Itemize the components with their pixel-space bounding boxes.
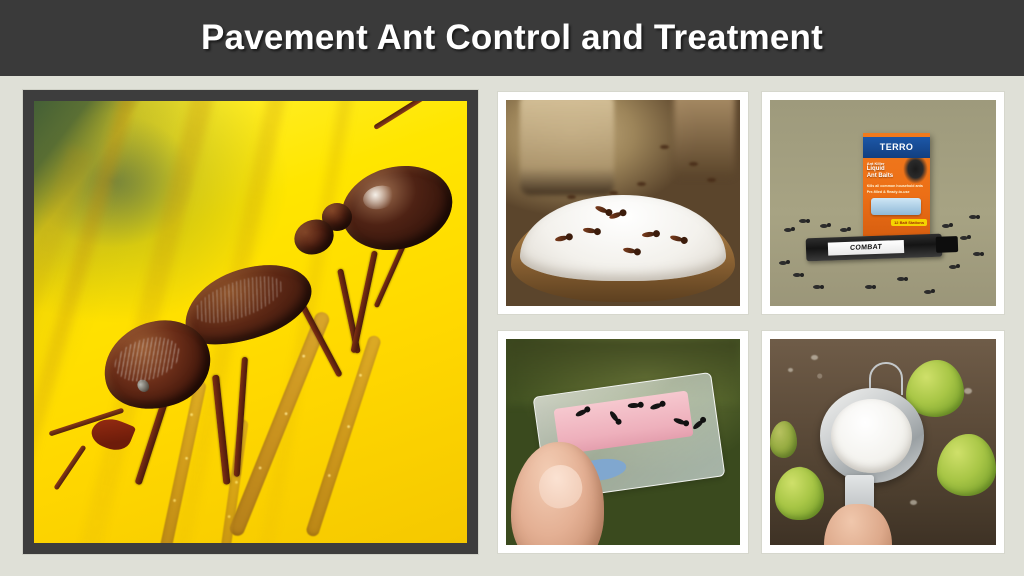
terro-line3: Ant Baits <box>867 173 893 181</box>
ant <box>865 285 873 289</box>
ant <box>813 285 821 289</box>
syringe-plunger <box>936 236 958 253</box>
ant <box>897 277 905 281</box>
ant <box>799 219 807 223</box>
ant-eye <box>136 378 153 395</box>
gallery-frame-diatomaceous-earth-sieve <box>762 331 1004 553</box>
background-ant <box>637 182 646 186</box>
background-ant <box>689 162 698 166</box>
ant-gaster <box>333 155 462 262</box>
ant <box>960 236 968 240</box>
ant-bait-products-image: TERRO Ant Killer Liquid Ant Baits Kills … <box>770 100 996 306</box>
sugar-granules <box>520 195 726 282</box>
ant <box>973 252 981 256</box>
gallery-frame-hand-holding-bait-station <box>498 331 748 553</box>
ant-graphic-icon <box>903 154 927 185</box>
lettuce-leaf <box>775 467 825 521</box>
ant <box>779 261 787 265</box>
gallery-frame-ants-on-sugar-spoon <box>498 92 748 314</box>
ant <box>942 224 950 228</box>
hand <box>824 504 892 545</box>
soil-speck <box>910 500 917 505</box>
ants-on-sugar-spoon-image <box>506 100 740 306</box>
terro-claim-line2: Pre-filled & Ready-to-use <box>867 190 927 195</box>
ant-body <box>34 101 467 543</box>
terro-product-box: TERRO Ant Killer Liquid Ant Baits Kills … <box>863 133 931 236</box>
ant-antenna <box>373 101 435 130</box>
soil-speck <box>964 388 972 394</box>
ant <box>784 228 792 232</box>
page-title: Pavement Ant Control and Treatment <box>0 0 1024 76</box>
background-ant <box>567 195 576 199</box>
blurred-jar <box>520 100 614 195</box>
ant <box>924 290 932 294</box>
ant <box>969 215 977 219</box>
terro-brand-label: TERRO <box>880 142 914 152</box>
blurred-jar <box>674 100 735 178</box>
terro-brand-band: TERRO <box>863 137 931 158</box>
background-ant <box>707 178 716 182</box>
metal-sieve <box>820 388 924 483</box>
ant-leg <box>233 357 247 477</box>
combat-brand-label: COMBAT <box>850 243 882 251</box>
combat-gel-syringe: COMBAT <box>806 234 942 261</box>
hero-photo-frame <box>23 90 478 554</box>
ant <box>793 273 801 277</box>
pavement-ant-closeup-image <box>34 101 467 543</box>
terro-product-name: Ant Killer Liquid Ant Baits <box>867 161 893 181</box>
white-powder <box>831 399 912 473</box>
ant <box>692 420 704 432</box>
ant <box>820 224 828 228</box>
background-ant <box>660 145 669 149</box>
ant <box>628 403 640 408</box>
lettuce-leaf <box>937 434 996 496</box>
slide-root: Pavement Ant Control and Treatment <box>0 0 1024 576</box>
ant-leg <box>212 375 230 485</box>
ant-antenna <box>53 444 86 490</box>
soil-speck <box>811 355 818 360</box>
thumbnail-nail <box>535 462 585 512</box>
hand-holding-bait-station-image <box>506 339 740 545</box>
gallery-frame-ant-bait-products: TERRO Ant Killer Liquid Ant Baits Kills … <box>762 92 1004 314</box>
bait-tray-graphic <box>871 198 921 216</box>
ant <box>840 228 848 232</box>
combat-label: COMBAT <box>828 240 904 255</box>
ant-leg <box>350 251 377 354</box>
background-ant <box>609 191 618 195</box>
soil-speck <box>788 368 793 372</box>
diatomaceous-earth-sieve-image <box>770 339 996 545</box>
terro-claims: Kills all common household ants Pre-fill… <box>867 184 927 195</box>
terro-count-badge: 12 Bait Stations <box>891 219 927 226</box>
ant <box>949 265 957 269</box>
lettuce-leaf <box>770 421 797 458</box>
